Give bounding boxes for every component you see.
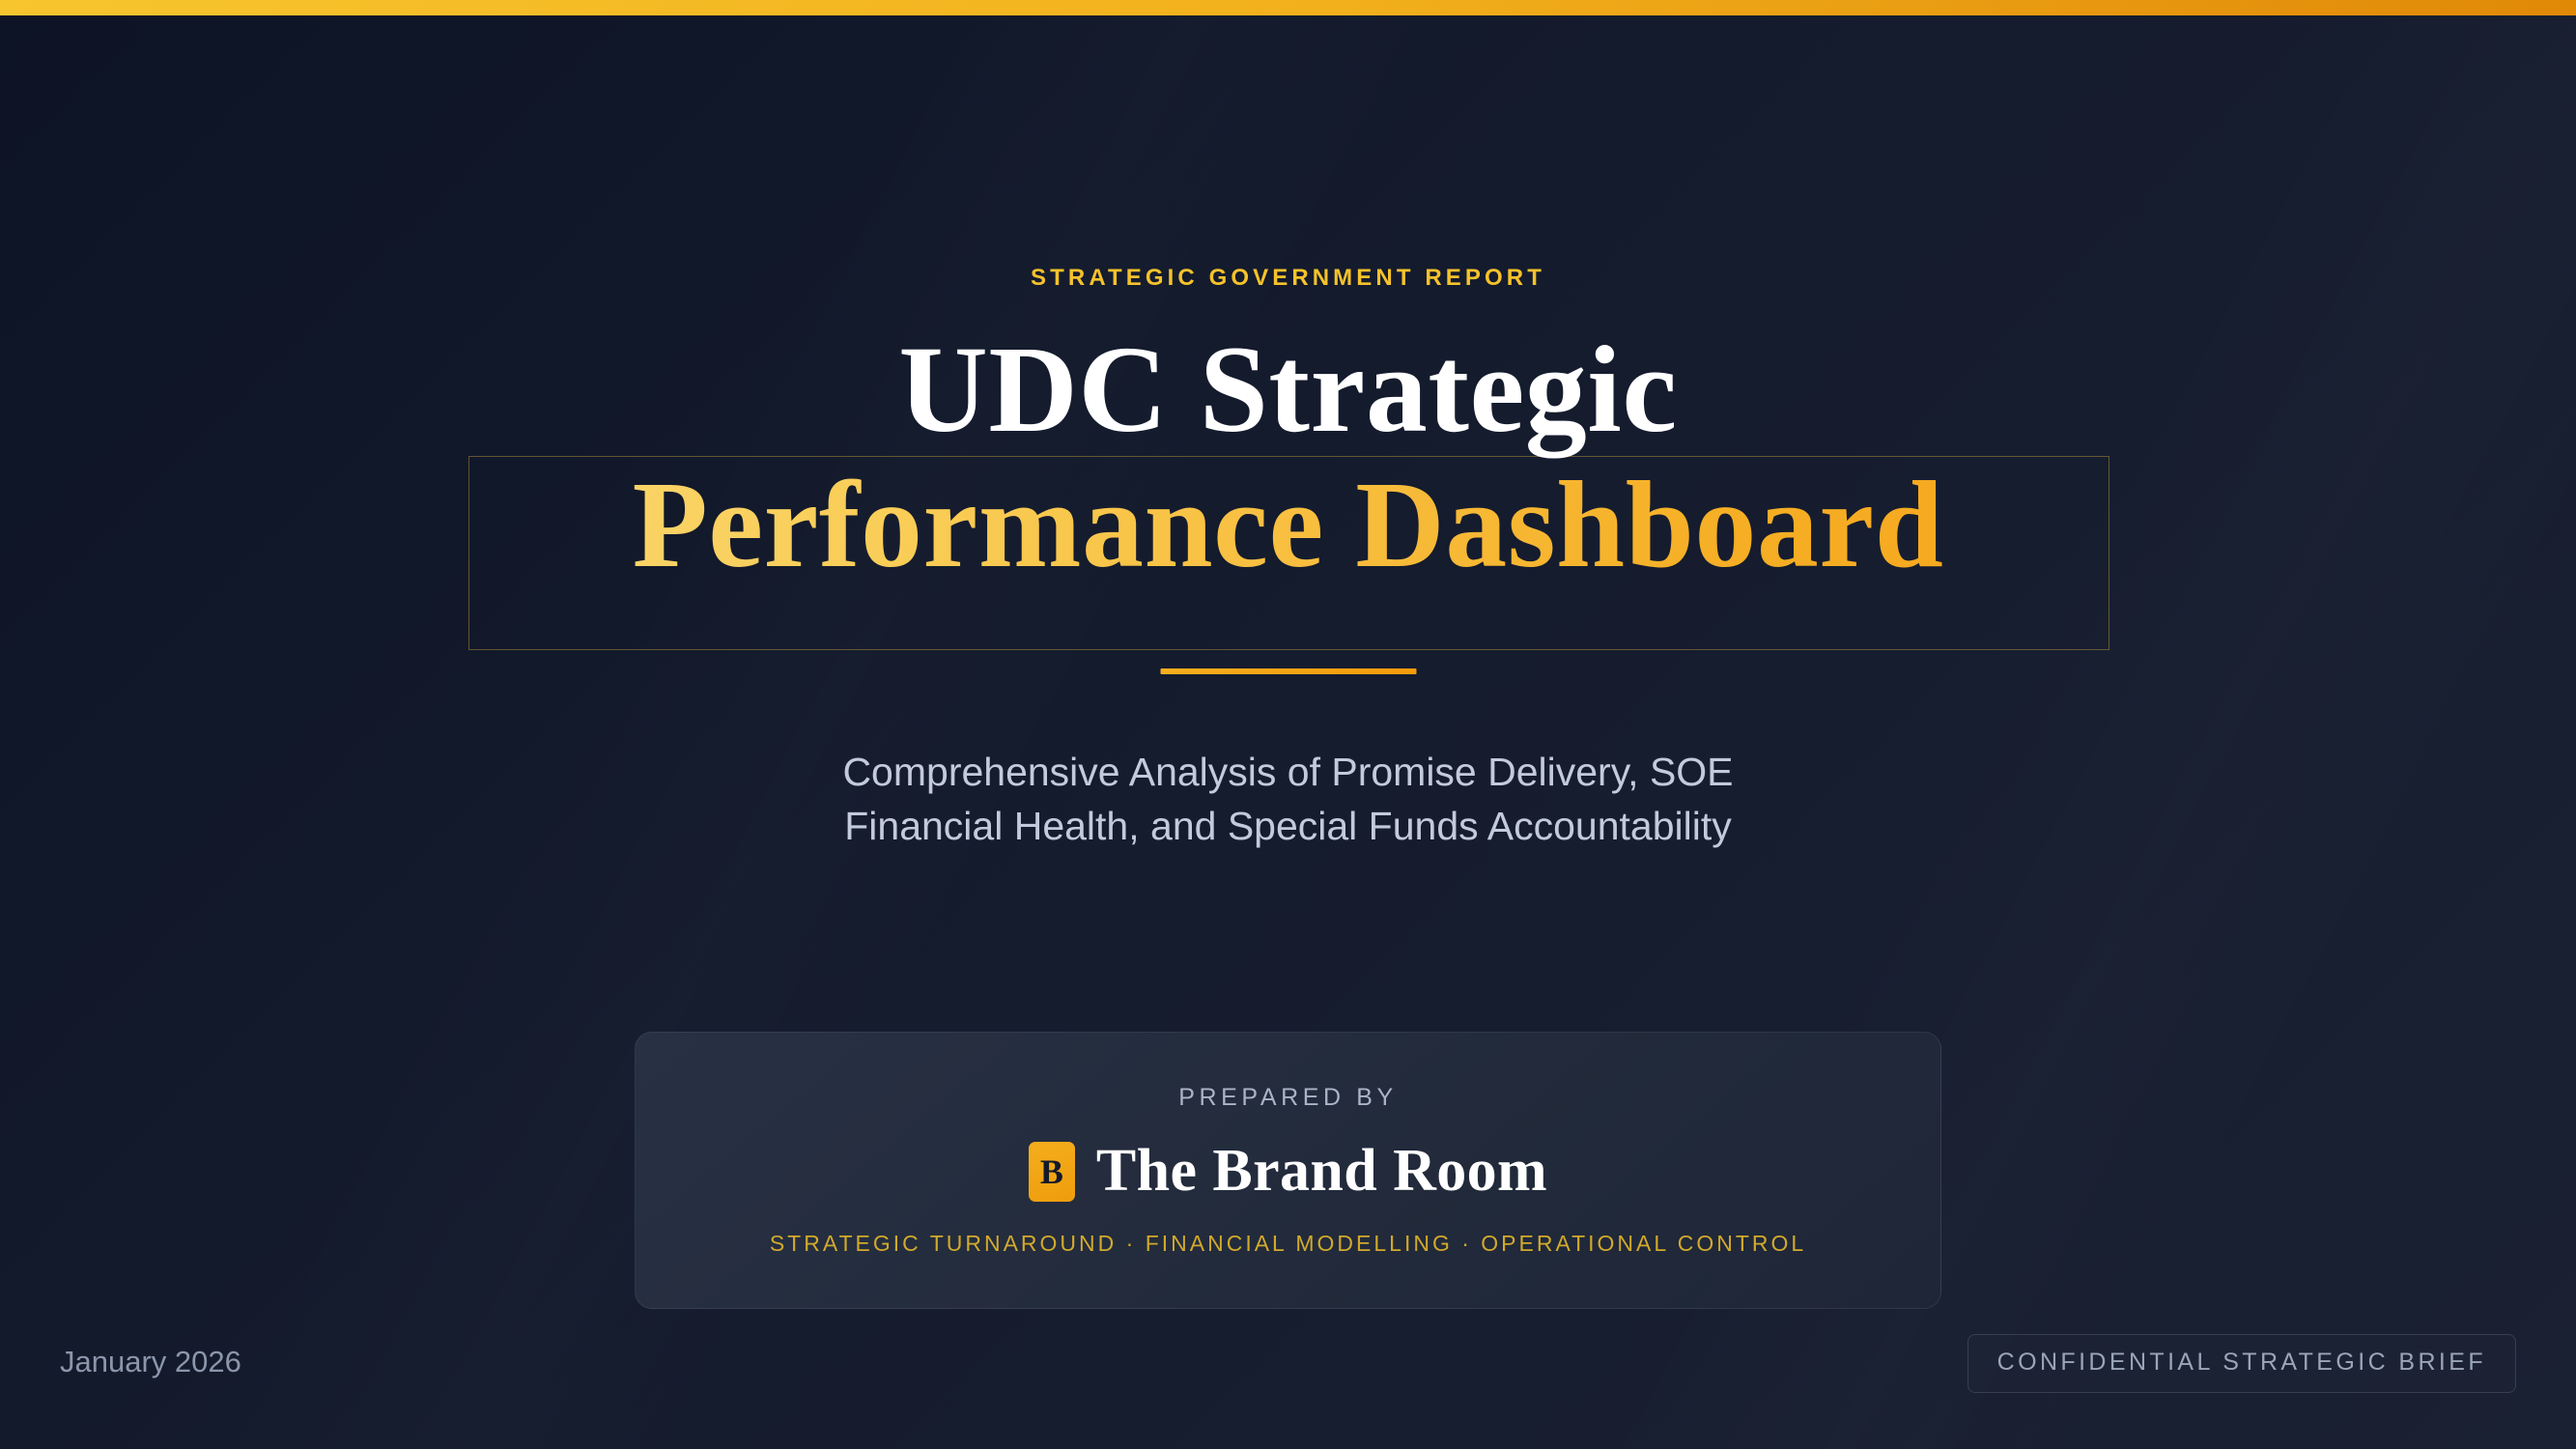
footer-date: January 2026: [60, 1345, 241, 1379]
page-title-line-1: UDC Strategic: [0, 327, 2576, 453]
eyebrow-label: STRATEGIC GOVERNMENT REPORT: [0, 265, 2576, 292]
prepared-by-card: PREPARED BY B The Brand Room STRATEGIC T…: [635, 1032, 1941, 1309]
subtitle-line-2: Financial Health, and Special Funds Acco…: [564, 800, 2013, 854]
page-title-line-2: Performance Dashboard: [0, 462, 2576, 588]
brand-tagline: STRATEGIC TURNAROUND · FINANCIAL MODELLI…: [770, 1231, 1806, 1257]
subtitle: Comprehensive Analysis of Promise Delive…: [564, 746, 2013, 854]
brand-logo-icon: B: [1029, 1142, 1075, 1202]
brand-name: The Brand Room: [1096, 1137, 1547, 1206]
brand-lockup: B The Brand Room: [1029, 1137, 1547, 1206]
prepared-by-label: PREPARED BY: [1178, 1084, 1398, 1112]
subtitle-line-1: Comprehensive Analysis of Promise Delive…: [564, 746, 2013, 800]
gold-divider-rule: [1160, 668, 1416, 674]
confidential-badge: CONFIDENTIAL STRATEGIC BRIEF: [1967, 1334, 2516, 1393]
title-slide: STRATEGIC GOVERNMENT REPORT UDC Strategi…: [0, 0, 2576, 1449]
top-accent-bar: [0, 0, 2576, 15]
